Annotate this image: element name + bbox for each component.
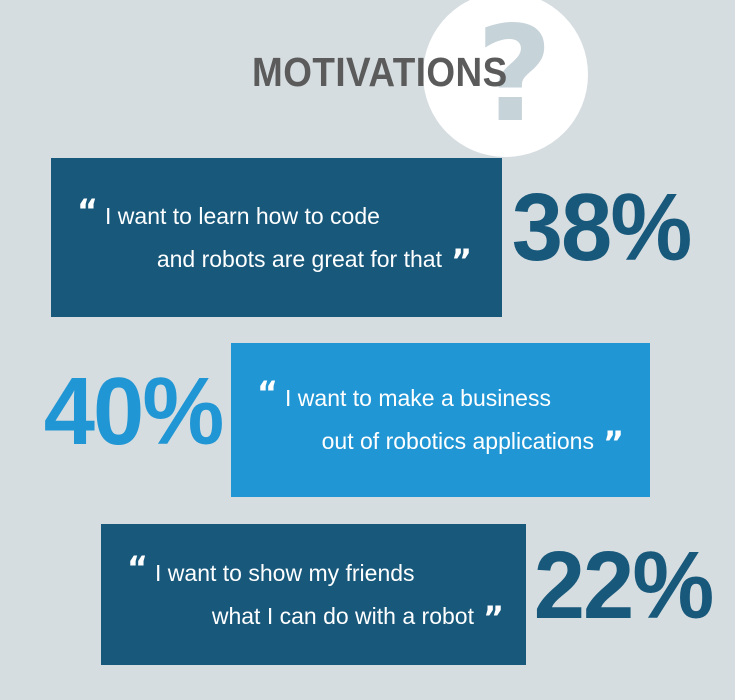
percentage-value: 22% bbox=[534, 538, 713, 634]
quote-box: “ I want to show my friends what I can d… bbox=[101, 524, 526, 665]
quote-box: “ I want to learn how to code and robots… bbox=[51, 158, 502, 317]
quote-line-1: “ I want to learn how to code bbox=[77, 205, 472, 228]
quote-text-line-2: what I can do with a robot bbox=[212, 605, 474, 628]
quote-line-1: “ I want to show my friends bbox=[127, 562, 504, 585]
quote-line-2: what I can do with a robot ” bbox=[127, 605, 504, 628]
percentage-value: 38% bbox=[512, 180, 691, 276]
quote-line-1: “ I want to make a business bbox=[257, 387, 624, 410]
quote-text-line-1: I want to show my friends bbox=[155, 562, 415, 585]
quote-text-line-2: out of robotics applications bbox=[322, 430, 594, 453]
percentage-value: 40% bbox=[44, 364, 223, 460]
quote-line-2: and robots are great for that ” bbox=[77, 248, 472, 271]
quote-line-2: out of robotics applications ” bbox=[257, 430, 624, 453]
quote-box: “ I want to make a business out of robot… bbox=[231, 343, 650, 497]
quote-text-line-1: I want to learn how to code bbox=[105, 205, 380, 228]
header: ? MOTIVATIONS bbox=[0, 0, 735, 160]
quote-text-line-2: and robots are great for that bbox=[157, 248, 442, 271]
motivations-infographic: ? MOTIVATIONS “ I want to learn how to c… bbox=[0, 0, 735, 700]
quote-text-line-1: I want to make a business bbox=[285, 387, 551, 410]
page-title: MOTIVATIONS bbox=[252, 52, 508, 93]
